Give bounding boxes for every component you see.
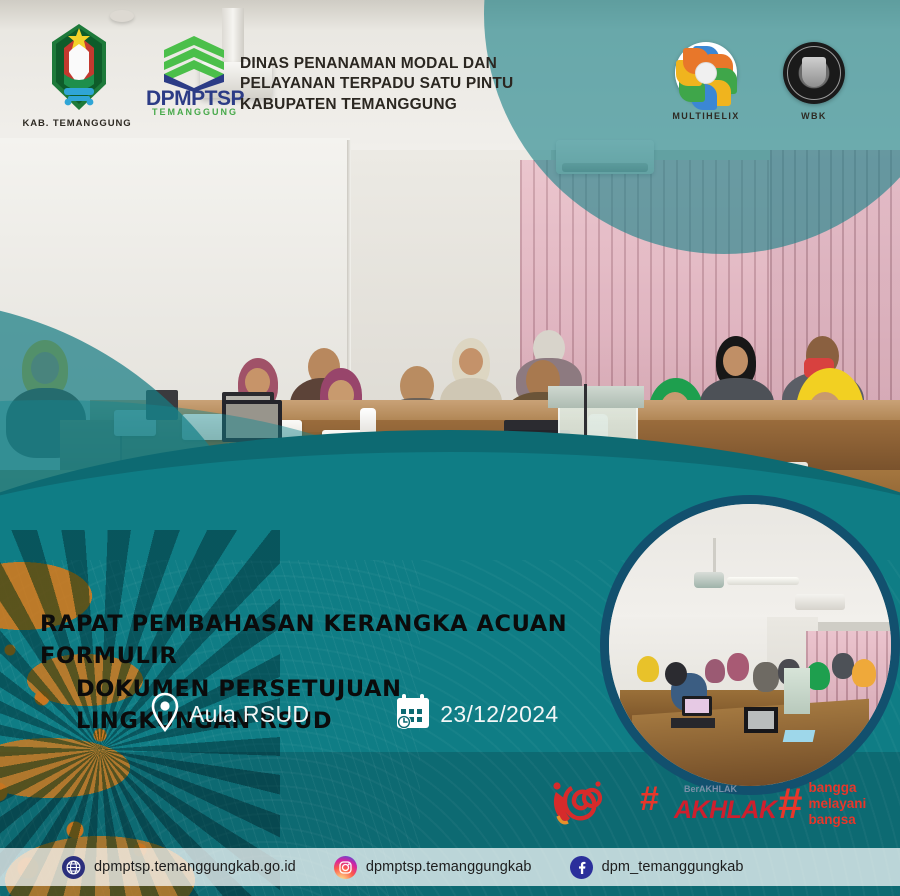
facebook-icon	[570, 856, 593, 879]
globe-icon	[62, 856, 85, 879]
inset-papers	[783, 730, 816, 742]
instagram-icon	[334, 856, 357, 879]
inset-monitor	[744, 707, 778, 733]
dpmptsp-subtitle: TEMANGGUNG	[140, 107, 250, 117]
inset-ceiling-light	[727, 577, 799, 585]
footer-instagram[interactable]: dpmptsp.temanggungkab	[334, 856, 532, 879]
poster-header: KAB. TEMANGGUNG DPMPTSP TEMANGGUNG DINAS…	[0, 0, 900, 150]
attendee-face	[723, 346, 748, 376]
inset-attendee	[832, 653, 854, 679]
footer-website[interactable]: dpmptsp.temanggungkab.go.id	[62, 856, 296, 879]
inset-attendee	[753, 662, 779, 692]
inset-laptop	[671, 718, 715, 728]
crest-label: KAB. TEMANGGUNG	[12, 118, 142, 129]
attendee-face	[459, 348, 483, 375]
acrylic-partition-top	[548, 386, 644, 408]
inset-air-conditioner	[795, 594, 845, 610]
akhlak-small-label: BerAKHLAK	[684, 784, 737, 794]
inset-photo-circle	[600, 495, 900, 795]
footer-instagram-text: dpmptsp.temanggungkab	[366, 859, 532, 875]
inset-projector	[694, 572, 724, 588]
footer-bar: dpmptsp.temanggungkab.go.id dpmptsp.tema…	[0, 848, 900, 886]
inset-attendee	[806, 662, 830, 690]
event-location-text: Aula RSUD	[189, 701, 309, 728]
event-location: Aula RSUD	[150, 692, 309, 737]
inset-attendee	[705, 659, 725, 683]
event-date-text: 23/12/2024	[440, 701, 558, 728]
bangga-line-3: bangsa	[808, 812, 866, 828]
wbk-badge: WBK	[780, 42, 848, 121]
event-date: 23/12/2024	[395, 693, 558, 736]
akhlak-wordmark: AKHLAK	[674, 798, 777, 823]
inset-projector-mount	[713, 538, 716, 574]
footer-facebook[interactable]: dpm_temanggungkab	[570, 856, 744, 879]
inset-attendee	[852, 659, 876, 687]
multihelix-badge: MULTIHELIX	[672, 42, 740, 121]
map-pin-icon	[150, 692, 180, 737]
wbk-label: WBK	[780, 111, 848, 121]
bangga-hash: #	[778, 786, 802, 821]
bangga-melayani-bangsa-logo: # bangga melayani bangsa	[778, 778, 898, 830]
footer-website-text: dpmptsp.temanggungkab.go.id	[94, 859, 296, 875]
inset-attendee	[637, 656, 659, 682]
wbk-seal-icon	[783, 42, 845, 104]
bangga-line-2: melayani	[808, 796, 866, 812]
footer-facebook-text: dpm_temanggungkab	[602, 859, 744, 875]
dpmptsp-logo-icon	[148, 34, 240, 92]
dpmptsp-wordmark: DPMPTSP	[140, 88, 250, 109]
inset-laptop	[682, 696, 712, 716]
event-title-line-1: RAPAT PEMBAHASAN KERANGKA ACUAN FORMULIR	[40, 608, 570, 673]
inset-partition	[784, 668, 810, 714]
hut-ri-logo-icon	[548, 778, 610, 826]
calendar-clock-icon	[395, 693, 431, 736]
event-meta-row: Aula RSUD	[150, 692, 558, 737]
organization-title: DINAS PENANAMAN MODAL DAN PELAYANAN TERP…	[240, 54, 540, 115]
akhlak-hash: #	[640, 780, 659, 818]
multihelix-label: MULTIHELIX	[672, 111, 740, 121]
poster-root: KAB. TEMANGGUNG DPMPTSP TEMANGGUNG DINAS…	[0, 0, 900, 896]
akhlak-logo: # BerAKHLAK AKHLAK	[640, 782, 770, 826]
inset-ceiling	[609, 504, 891, 622]
multihelix-wheel-icon	[675, 42, 737, 104]
temanggung-crest-icon	[48, 22, 110, 110]
bangga-line-1: bangga	[808, 780, 866, 796]
